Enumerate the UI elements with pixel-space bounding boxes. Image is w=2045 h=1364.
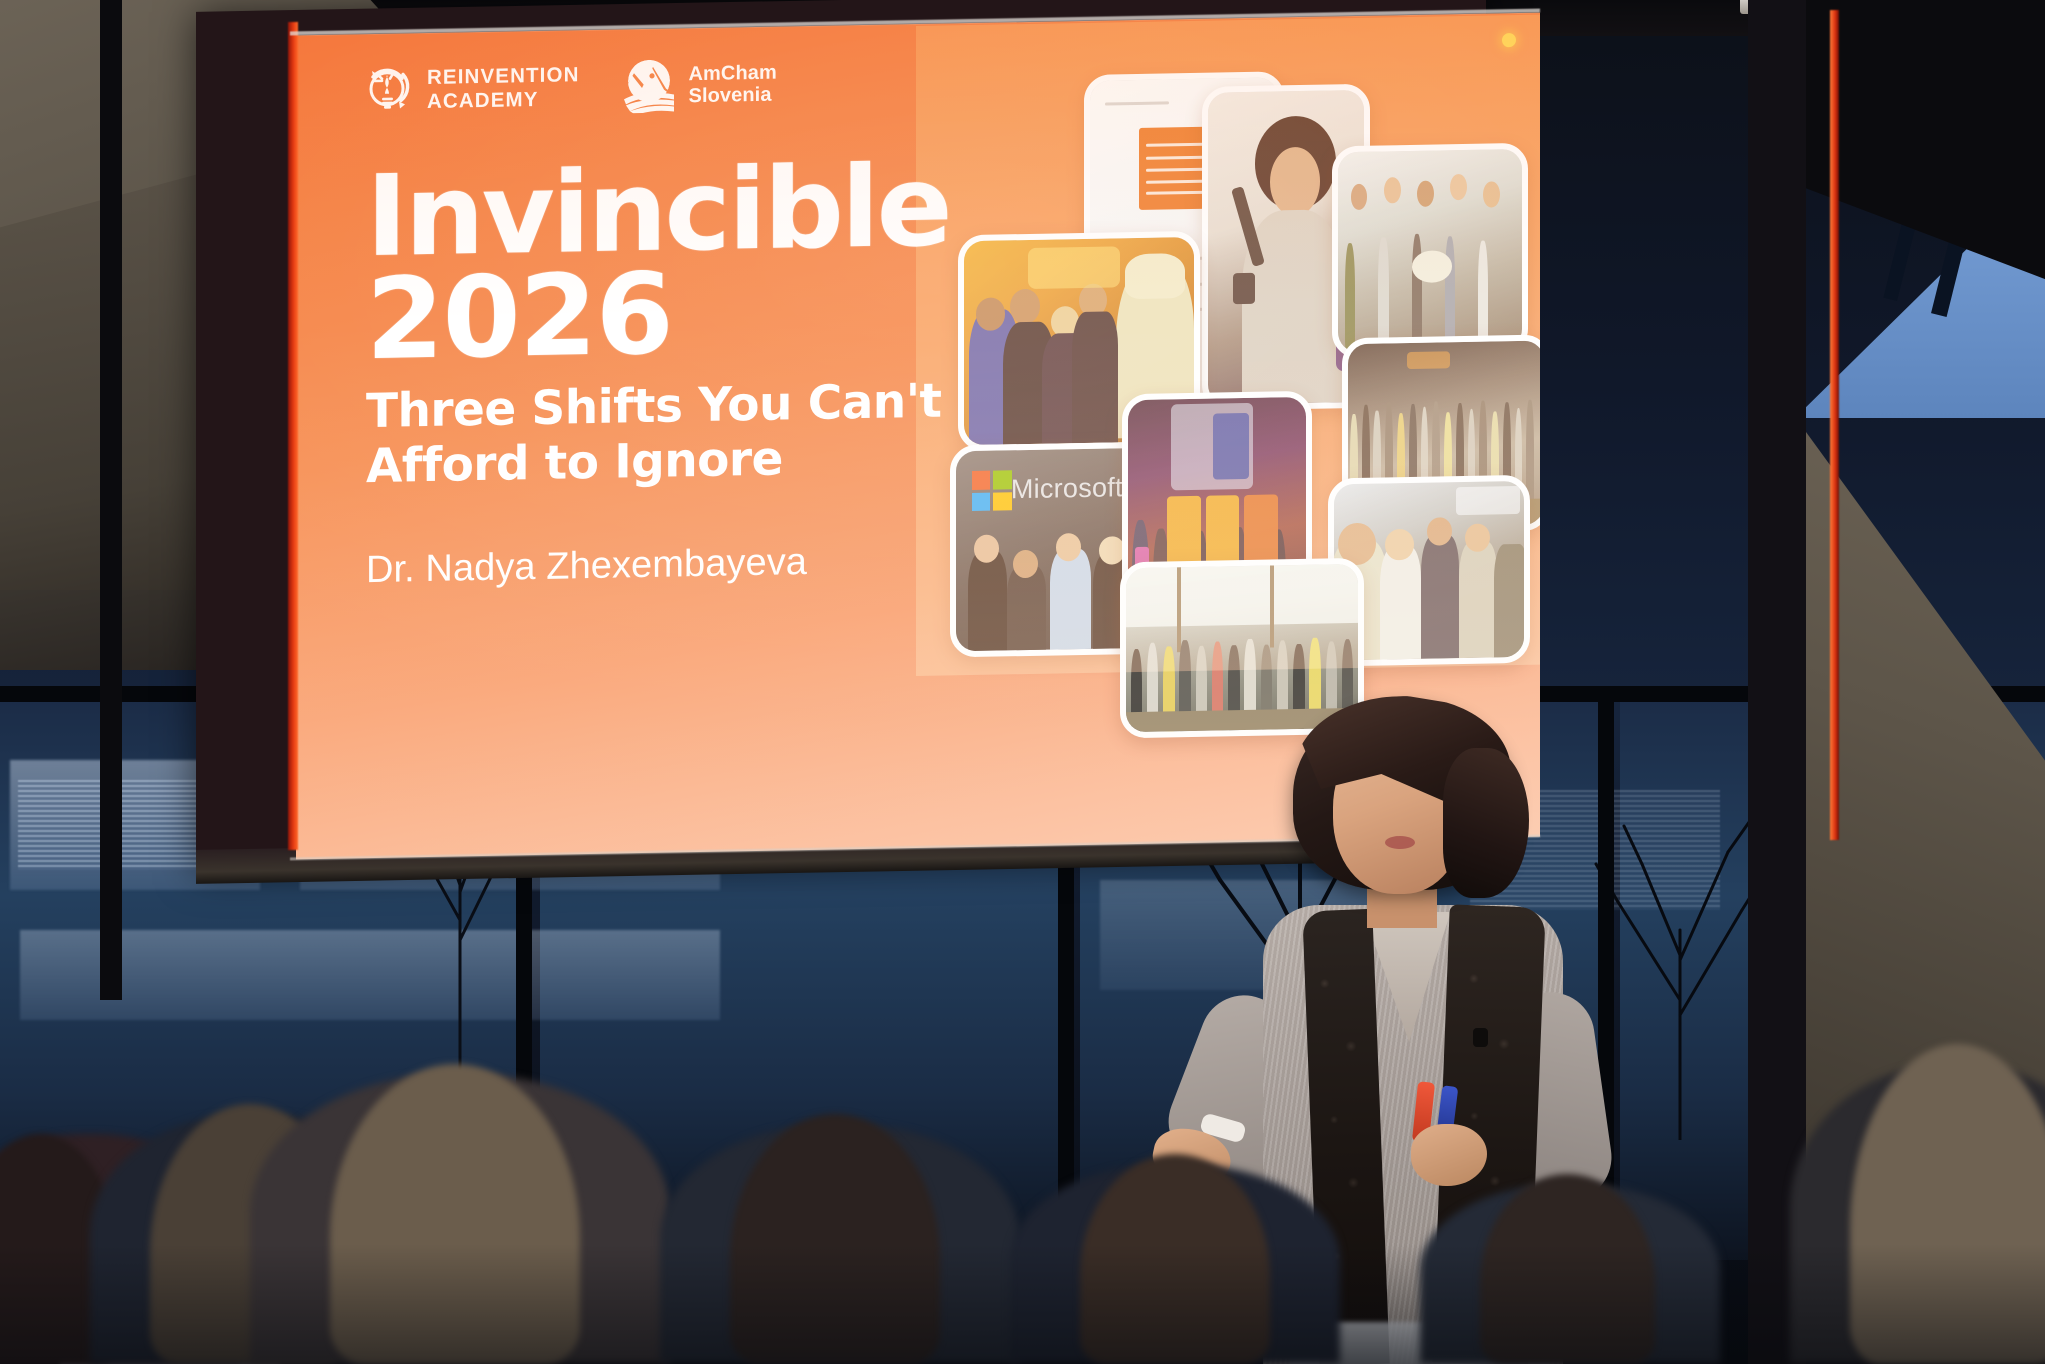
slide-byline: Dr. Nadya Zhexembayeva bbox=[366, 541, 807, 592]
presenter-hair-side bbox=[1443, 748, 1529, 898]
collage-tile-women-flowers bbox=[1332, 143, 1528, 359]
logo-amcham-line1: AmCham bbox=[689, 63, 777, 85]
logo-amcham-line2: Slovenia bbox=[689, 85, 777, 107]
microsoft-wordmark: Microsoft bbox=[1011, 472, 1123, 505]
photo-collage: Microsoft bbox=[936, 35, 1536, 656]
projection-screen-assembly: REINVENTION ACADEMY bbox=[100, 0, 1400, 880]
scene-root: REINVENTION ACADEMY bbox=[0, 0, 2045, 1364]
presenter-mouth bbox=[1385, 836, 1415, 849]
logo-reinvention-academy: REINVENTION ACADEMY bbox=[362, 61, 580, 117]
subheadline-line-1: Three Shifts You Can't bbox=[366, 374, 941, 440]
microsoft-logo-icon bbox=[972, 470, 1012, 511]
slide-subheadline: Three Shifts You Can't Afford to Ignore bbox=[366, 374, 941, 495]
audience-silhouettes bbox=[0, 944, 2045, 1364]
slide-logo-row: REINVENTION ACADEMY bbox=[362, 57, 777, 119]
subheadline-line-2: Afford to Ignore bbox=[366, 429, 941, 495]
lightbulb-refresh-icon bbox=[362, 64, 414, 117]
slide-headline: Invincible 2026 bbox=[366, 155, 950, 372]
headline-line-2: 2026 bbox=[366, 258, 950, 372]
logo-reinvention-line1: REINVENTION bbox=[427, 65, 580, 88]
screen-edge-left bbox=[288, 22, 298, 850]
screen-edge-right bbox=[1830, 10, 1839, 840]
logo-reinvention-line2: ACADEMY bbox=[427, 89, 580, 112]
mountain-circle-icon bbox=[622, 58, 676, 113]
logo-amcham-slovenia: AmCham Slovenia bbox=[622, 57, 777, 114]
